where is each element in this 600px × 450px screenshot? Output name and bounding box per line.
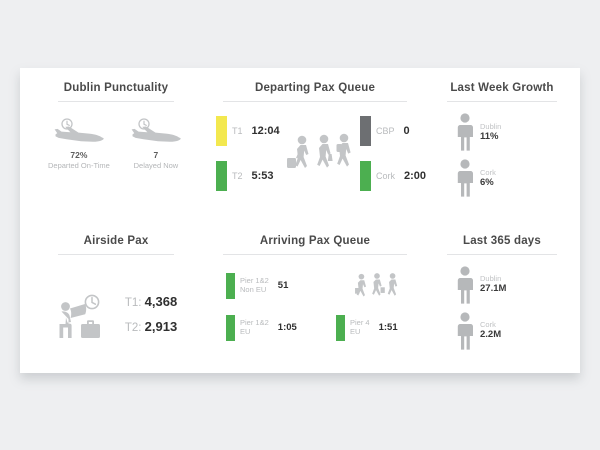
growth-name: Cork — [480, 168, 496, 177]
panel-last-365-days: Last 365 days Dublin 27.1M — [430, 221, 580, 374]
queue-label: Pier 1&2 EU — [240, 319, 269, 336]
queue-row-cork[interactable]: Cork 2:00 — [360, 161, 426, 191]
panel-airside-pax: Airside Pax T1: — [20, 221, 200, 374]
panel-title-punctuality: Dublin Punctuality — [48, 82, 184, 94]
arriving-queue-body: Pier 1&2 Non EU 51 Pier 1&2 EU 1:05 — [208, 269, 422, 355]
queue-row-t1[interactable]: T1 12:04 — [216, 116, 280, 146]
growth-row-dublin[interactable]: Dublin 11% — [454, 112, 550, 152]
airside-stats: T1: 4,368 T2: 2,913 — [125, 294, 177, 334]
queue-status-bar — [216, 116, 227, 146]
yearly-name: Dublin — [480, 274, 506, 283]
airside-row-t1: T1: 4,368 — [125, 294, 177, 309]
punctuality-value: 7 — [128, 150, 184, 160]
panel-divider — [223, 101, 407, 102]
yearly-text: Dublin 27.1M — [480, 274, 506, 294]
yearly-text: Cork 2.2M — [480, 320, 501, 340]
yearly-value: 2.2M — [480, 329, 501, 340]
punctuality-body: 72% Departed On-Time — [48, 118, 184, 170]
queue-status-bar — [216, 161, 227, 191]
panel-dublin-punctuality: Dublin Punctuality — [20, 68, 200, 221]
queue-label: Cork — [376, 171, 395, 181]
person-icon — [454, 311, 476, 351]
panel-title-departing-queue: Departing Pax Queue — [208, 82, 422, 94]
growth-text: Cork 6% — [480, 168, 496, 188]
queue-row-pier12-noneu[interactable]: Pier 1&2 Non EU 51 — [226, 273, 288, 299]
queue-label: Pier 4 EU — [350, 319, 370, 336]
punctuality-metric-delayed: 7 Delayed Now — [128, 118, 184, 170]
dashboard-card: Dublin Punctuality — [20, 68, 580, 373]
punctuality-metrics: 72% Departed On-Time — [48, 118, 184, 170]
last-365-days-body: Dublin 27.1M Cork 2.2M — [438, 265, 566, 351]
queue-value: 0 — [404, 125, 410, 137]
panel-last-week-growth: Last Week Growth Dublin 11% — [430, 68, 580, 221]
panel-title-arriving-queue: Arriving Pax Queue — [208, 235, 422, 247]
delayed-plane-icon — [128, 118, 184, 148]
yearly-value: 27.1M — [480, 283, 506, 294]
person-icon — [454, 265, 476, 305]
queue-label: T1 — [232, 126, 243, 136]
dashboard-bottom-row: Airside Pax T1: — [20, 221, 580, 374]
punctuality-label: Delayed Now — [128, 161, 184, 170]
panel-divider — [223, 254, 407, 255]
panel-divider — [58, 101, 175, 102]
airside-label: T1: — [125, 297, 142, 309]
walking-passengers-icon — [284, 130, 360, 189]
growth-value: 6% — [480, 177, 496, 188]
yearly-row-cork[interactable]: Cork 2.2M — [454, 311, 550, 351]
queue-value: 5:53 — [252, 170, 274, 182]
queue-row-t2[interactable]: T2 5:53 — [216, 161, 274, 191]
person-icon — [454, 158, 476, 198]
panel-title-last-week-growth: Last Week Growth — [438, 82, 566, 94]
person-icon — [454, 112, 476, 152]
departing-plane-icon — [48, 118, 110, 148]
yearly-name: Cork — [480, 320, 501, 329]
airside-label: T2: — [125, 322, 142, 334]
growth-value: 11% — [480, 131, 501, 142]
panel-divider — [447, 254, 557, 255]
queue-label: CBP — [376, 126, 395, 136]
growth-text: Dublin 11% — [480, 122, 501, 142]
panel-divider — [58, 254, 175, 255]
punctuality-value: 72% — [48, 150, 110, 160]
queue-label-line2: EU — [350, 328, 370, 337]
growth-name: Dublin — [480, 122, 501, 131]
airside-pax-body: T1: 4,368 T2: 2,913 — [48, 273, 184, 355]
queue-row-pier12-eu[interactable]: Pier 1&2 EU 1:05 — [226, 315, 297, 341]
departing-queue-body: T1 12:04 T2 5:53 CBP 0 Cork 2:00 — [208, 116, 422, 202]
panel-title-last-365-days: Last 365 days — [438, 235, 566, 247]
queue-label-line2: Non EU — [240, 286, 269, 295]
punctuality-label: Departed On-Time — [48, 161, 110, 170]
queue-label-line2: EU — [240, 328, 269, 337]
airside-value: 2,913 — [145, 319, 178, 334]
dashboard-top-row: Dublin Punctuality — [20, 68, 580, 221]
queue-value: 12:04 — [252, 125, 280, 137]
queue-row-pier4-eu[interactable]: Pier 4 EU 1:51 — [336, 315, 398, 341]
queue-status-bar — [226, 273, 235, 299]
airside-row-t2: T2: 2,913 — [125, 319, 177, 334]
walking-passengers-icon — [348, 271, 406, 310]
queue-label: T2 — [232, 171, 243, 181]
queue-value: 2:00 — [404, 170, 426, 182]
yearly-row-dublin[interactable]: Dublin 27.1M — [454, 265, 550, 305]
queue-label: Pier 1&2 Non EU — [240, 277, 269, 294]
queue-status-bar — [360, 161, 371, 191]
queue-value: 1:51 — [379, 322, 398, 333]
punctuality-metric-on-time: 72% Departed On-Time — [48, 118, 110, 170]
panel-divider — [447, 101, 557, 102]
queue-value: 51 — [278, 280, 289, 291]
panel-title-airside-pax: Airside Pax — [48, 235, 184, 247]
queue-status-bar — [336, 315, 345, 341]
queue-value: 1:05 — [278, 322, 297, 333]
queue-status-bar — [360, 116, 371, 146]
airside-value: 4,368 — [145, 294, 178, 309]
panel-arriving-pax-queue: Arriving Pax Queue Pier 1&2 Non EU 51 Pi… — [200, 221, 430, 374]
panel-departing-pax-queue: Departing Pax Queue T1 12:04 T2 5:53 CBP… — [200, 68, 430, 221]
queue-row-cbp[interactable]: CBP 0 — [360, 116, 410, 146]
queue-status-bar — [226, 315, 235, 341]
last-week-growth-body: Dublin 11% Cork 6% — [438, 112, 566, 198]
growth-row-cork[interactable]: Cork 6% — [454, 158, 550, 198]
seated-passenger-icon — [55, 286, 117, 342]
